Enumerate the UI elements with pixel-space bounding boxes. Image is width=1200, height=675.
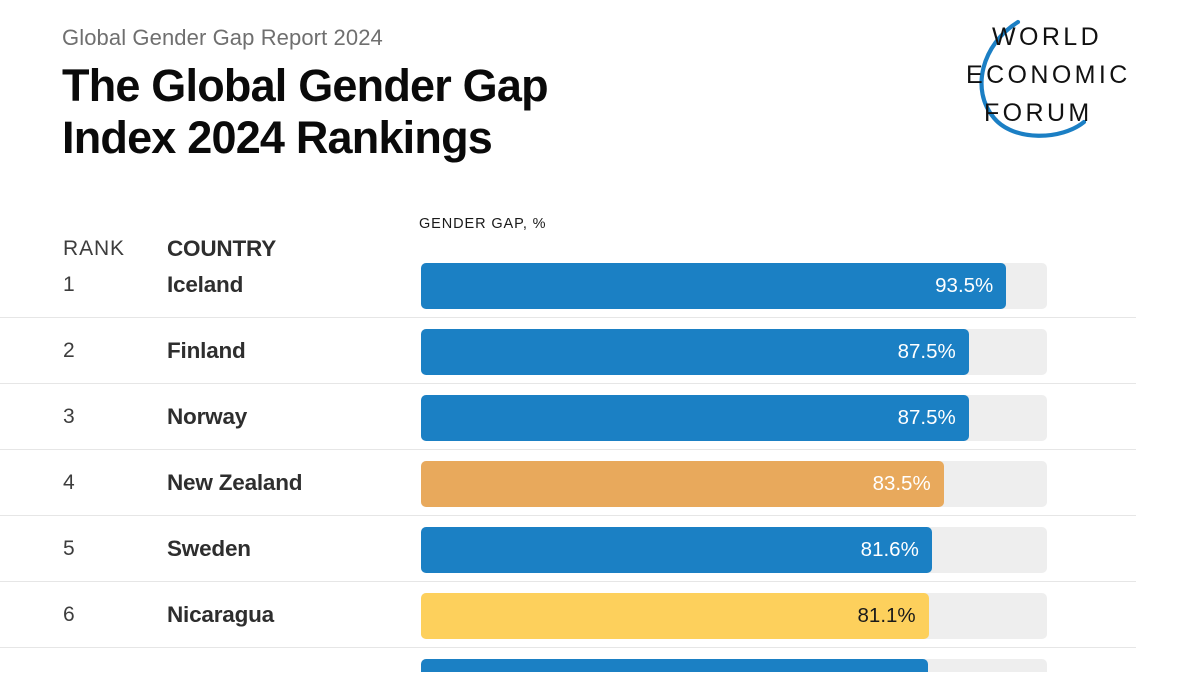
table-row: 3Norway87.5% — [0, 384, 1200, 450]
page-title: The Global Gender Gap Index 2024 Ranking… — [62, 60, 902, 164]
bar-track: 81.1% — [421, 593, 1047, 639]
rank-cell: 3 — [63, 384, 123, 450]
country-cell: New Zealand — [167, 450, 302, 516]
bar-track — [421, 659, 1047, 672]
logo-text-world: WORLD — [992, 23, 1102, 51]
bar-fill: 87.5% — [421, 329, 969, 375]
bar-value-label: 81.6% — [861, 527, 919, 573]
table-row: 5Sweden81.6% — [0, 516, 1200, 582]
bar-track: 83.5% — [421, 461, 1047, 507]
bar-value-label: 81.1% — [858, 593, 916, 639]
report-eyebrow: Global Gender Gap Report 2024 — [62, 24, 902, 52]
bar-value-label: 93.5% — [935, 263, 993, 309]
country-cell: Nicaragua — [167, 582, 274, 648]
column-header-gender-gap: GENDER GAP, % — [419, 216, 546, 232]
bar-track: 81.6% — [421, 527, 1047, 573]
bar-fill: 83.5% — [421, 461, 944, 507]
logo-text-economic: ECONOMIC — [966, 61, 1131, 89]
page-title-line-2: Index 2024 Rankings — [62, 112, 902, 164]
table-row-partial — [0, 648, 1200, 672]
rank-cell: 5 — [63, 516, 123, 582]
rank-cell: 2 — [63, 318, 123, 384]
table-row: 4New Zealand83.5% — [0, 450, 1200, 516]
bar-fill: 81.6% — [421, 527, 932, 573]
bar-value-label: 83.5% — [873, 461, 931, 507]
bar-fill: 93.5% — [421, 263, 1006, 309]
logo-text-forum: FORUM — [984, 99, 1093, 127]
header: Global Gender Gap Report 2024 The Global… — [62, 24, 902, 164]
rank-cell: 6 — [63, 582, 123, 648]
infographic-page: Global Gender Gap Report 2024 The Global… — [0, 0, 1200, 675]
bar-value-label: 87.5% — [898, 395, 956, 441]
table-row: 2Finland87.5% — [0, 318, 1200, 384]
country-cell: Iceland — [167, 252, 243, 318]
table-row: 1Iceland93.5% — [0, 252, 1200, 318]
world-economic-forum-logo: WORLD ECONOMIC FORUM — [932, 18, 1142, 146]
country-cell: Norway — [167, 384, 247, 450]
table-row: 6Nicaragua81.1% — [0, 582, 1200, 648]
bar-track: 93.5% — [421, 263, 1047, 309]
country-cell: Sweden — [167, 516, 251, 582]
bar-fill — [421, 659, 928, 672]
bar-fill: 87.5% — [421, 395, 969, 441]
column-header-row: RANK COUNTRY GENDER GAP, % — [0, 216, 1200, 240]
rank-cell: 4 — [63, 450, 123, 516]
bar-value-label: 87.5% — [898, 329, 956, 375]
bar-track: 87.5% — [421, 329, 1047, 375]
rankings-table: 1Iceland93.5%2Finland87.5%3Norway87.5%4N… — [0, 252, 1200, 672]
page-title-line-1: The Global Gender Gap — [62, 60, 902, 112]
bar-track: 87.5% — [421, 395, 1047, 441]
country-cell: Finland — [167, 318, 246, 384]
bar-fill: 81.1% — [421, 593, 929, 639]
rank-cell: 1 — [63, 252, 123, 318]
